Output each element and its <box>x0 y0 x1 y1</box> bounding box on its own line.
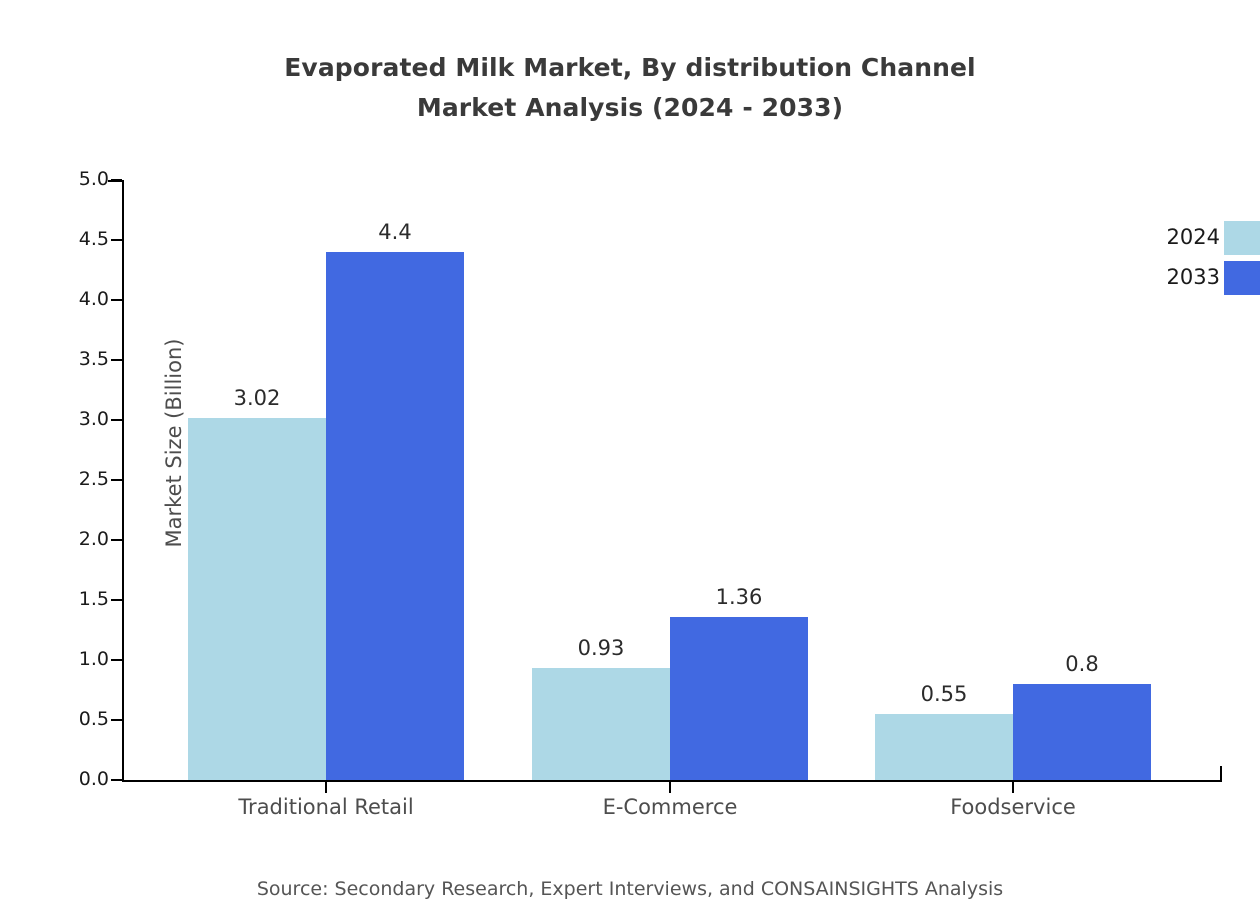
legend-label: 2033 <box>1130 267 1220 288</box>
y-axis-spine <box>122 180 124 782</box>
x-axis-spine <box>122 780 1222 782</box>
y-tick-mark <box>111 179 122 181</box>
y-tick-mark <box>111 539 122 541</box>
bar-value-label: 0.8 <box>1002 654 1162 675</box>
chart-title-line-1: Evaporated Milk Market, By distribution … <box>0 48 1260 88</box>
plot-area: 0.00.51.01.52.02.53.03.54.04.55.0 Tradit… <box>122 180 1222 782</box>
y-tick-label: 5.0 <box>49 170 109 189</box>
y-tick-label: 2.0 <box>49 530 109 549</box>
y-tick-mark <box>111 659 122 661</box>
chart-title: Evaporated Milk Market, By distribution … <box>0 48 1260 128</box>
y-tick-label: 1.0 <box>49 650 109 669</box>
x-tick-label: Foodservice <box>863 795 1163 819</box>
x-tick-mark <box>325 782 327 793</box>
y-tick-label: 4.0 <box>49 290 109 309</box>
y-tick-mark <box>111 359 122 361</box>
x-axis-right-cap <box>1220 766 1222 782</box>
x-tick-label: E-Commerce <box>520 795 820 819</box>
bar-2024-traditional-retail <box>188 418 326 780</box>
bar-2024-foodservice <box>875 714 1013 780</box>
legend-item-2033[interactable]: 2033 <box>1130 261 1260 295</box>
bar-2033-foodservice <box>1013 684 1151 780</box>
y-tick-mark <box>111 599 122 601</box>
bar-value-label: 0.93 <box>521 638 681 659</box>
bar-value-label: 1.36 <box>659 587 819 608</box>
legend-label: 2024 <box>1130 227 1220 248</box>
bar-value-label: 0.55 <box>864 684 1024 705</box>
source-caption: Source: Secondary Research, Expert Inter… <box>0 878 1260 900</box>
y-axis-label: Market Size (Billion) <box>162 293 186 593</box>
x-tick-mark <box>1012 782 1014 793</box>
bar-2033-traditional-retail <box>326 252 464 780</box>
chart-legend: 20242033 <box>1130 221 1260 301</box>
bar-value-label: 3.02 <box>177 388 337 409</box>
bar-2033-e-commerce <box>670 617 808 780</box>
y-tick-label: 3.0 <box>49 410 109 429</box>
legend-swatch <box>1224 221 1260 255</box>
chart-figure: Evaporated Milk Market, By distribution … <box>0 0 1260 920</box>
y-tick-mark <box>111 299 122 301</box>
y-tick-label: 2.5 <box>49 470 109 489</box>
bar-value-label: 4.4 <box>315 222 475 243</box>
y-tick-label: 4.5 <box>49 230 109 249</box>
y-tick-label: 0.5 <box>49 710 109 729</box>
x-tick-label: Traditional Retail <box>176 795 476 819</box>
y-tick-mark <box>111 779 122 781</box>
chart-title-line-2: Market Analysis (2024 - 2033) <box>0 88 1260 128</box>
y-tick-mark <box>111 419 122 421</box>
y-tick-label: 3.5 <box>49 350 109 369</box>
y-tick-mark <box>111 479 122 481</box>
legend-swatch <box>1224 261 1260 295</box>
bar-2024-e-commerce <box>532 668 670 780</box>
legend-item-2024[interactable]: 2024 <box>1130 221 1260 255</box>
y-tick-label: 1.5 <box>49 590 109 609</box>
y-tick-mark <box>111 239 122 241</box>
x-tick-mark <box>669 782 671 793</box>
y-tick-label: 0.0 <box>49 770 109 789</box>
y-tick-mark <box>111 719 122 721</box>
